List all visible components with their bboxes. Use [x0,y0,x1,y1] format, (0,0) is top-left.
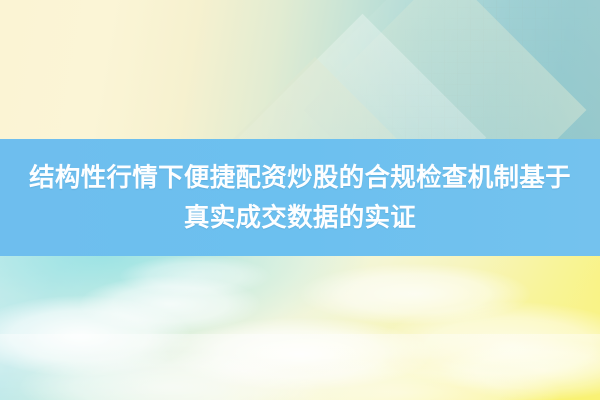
sky-background [0,256,600,400]
band-texture-overlay [288,0,600,140]
top-decorative-band [0,0,600,140]
article-cover-image: 结构性行情下便捷配资炒股的合规检查机制基于真实成交数据的实证 [0,0,600,400]
title-banner: 结构性行情下便捷配资炒股的合规检查机制基于真实成交数据的实证 [0,139,600,256]
sky-haze [0,334,600,400]
banner-title: 结构性行情下便捷配资炒股的合规检查机制基于真实成交数据的实证 [20,158,580,238]
